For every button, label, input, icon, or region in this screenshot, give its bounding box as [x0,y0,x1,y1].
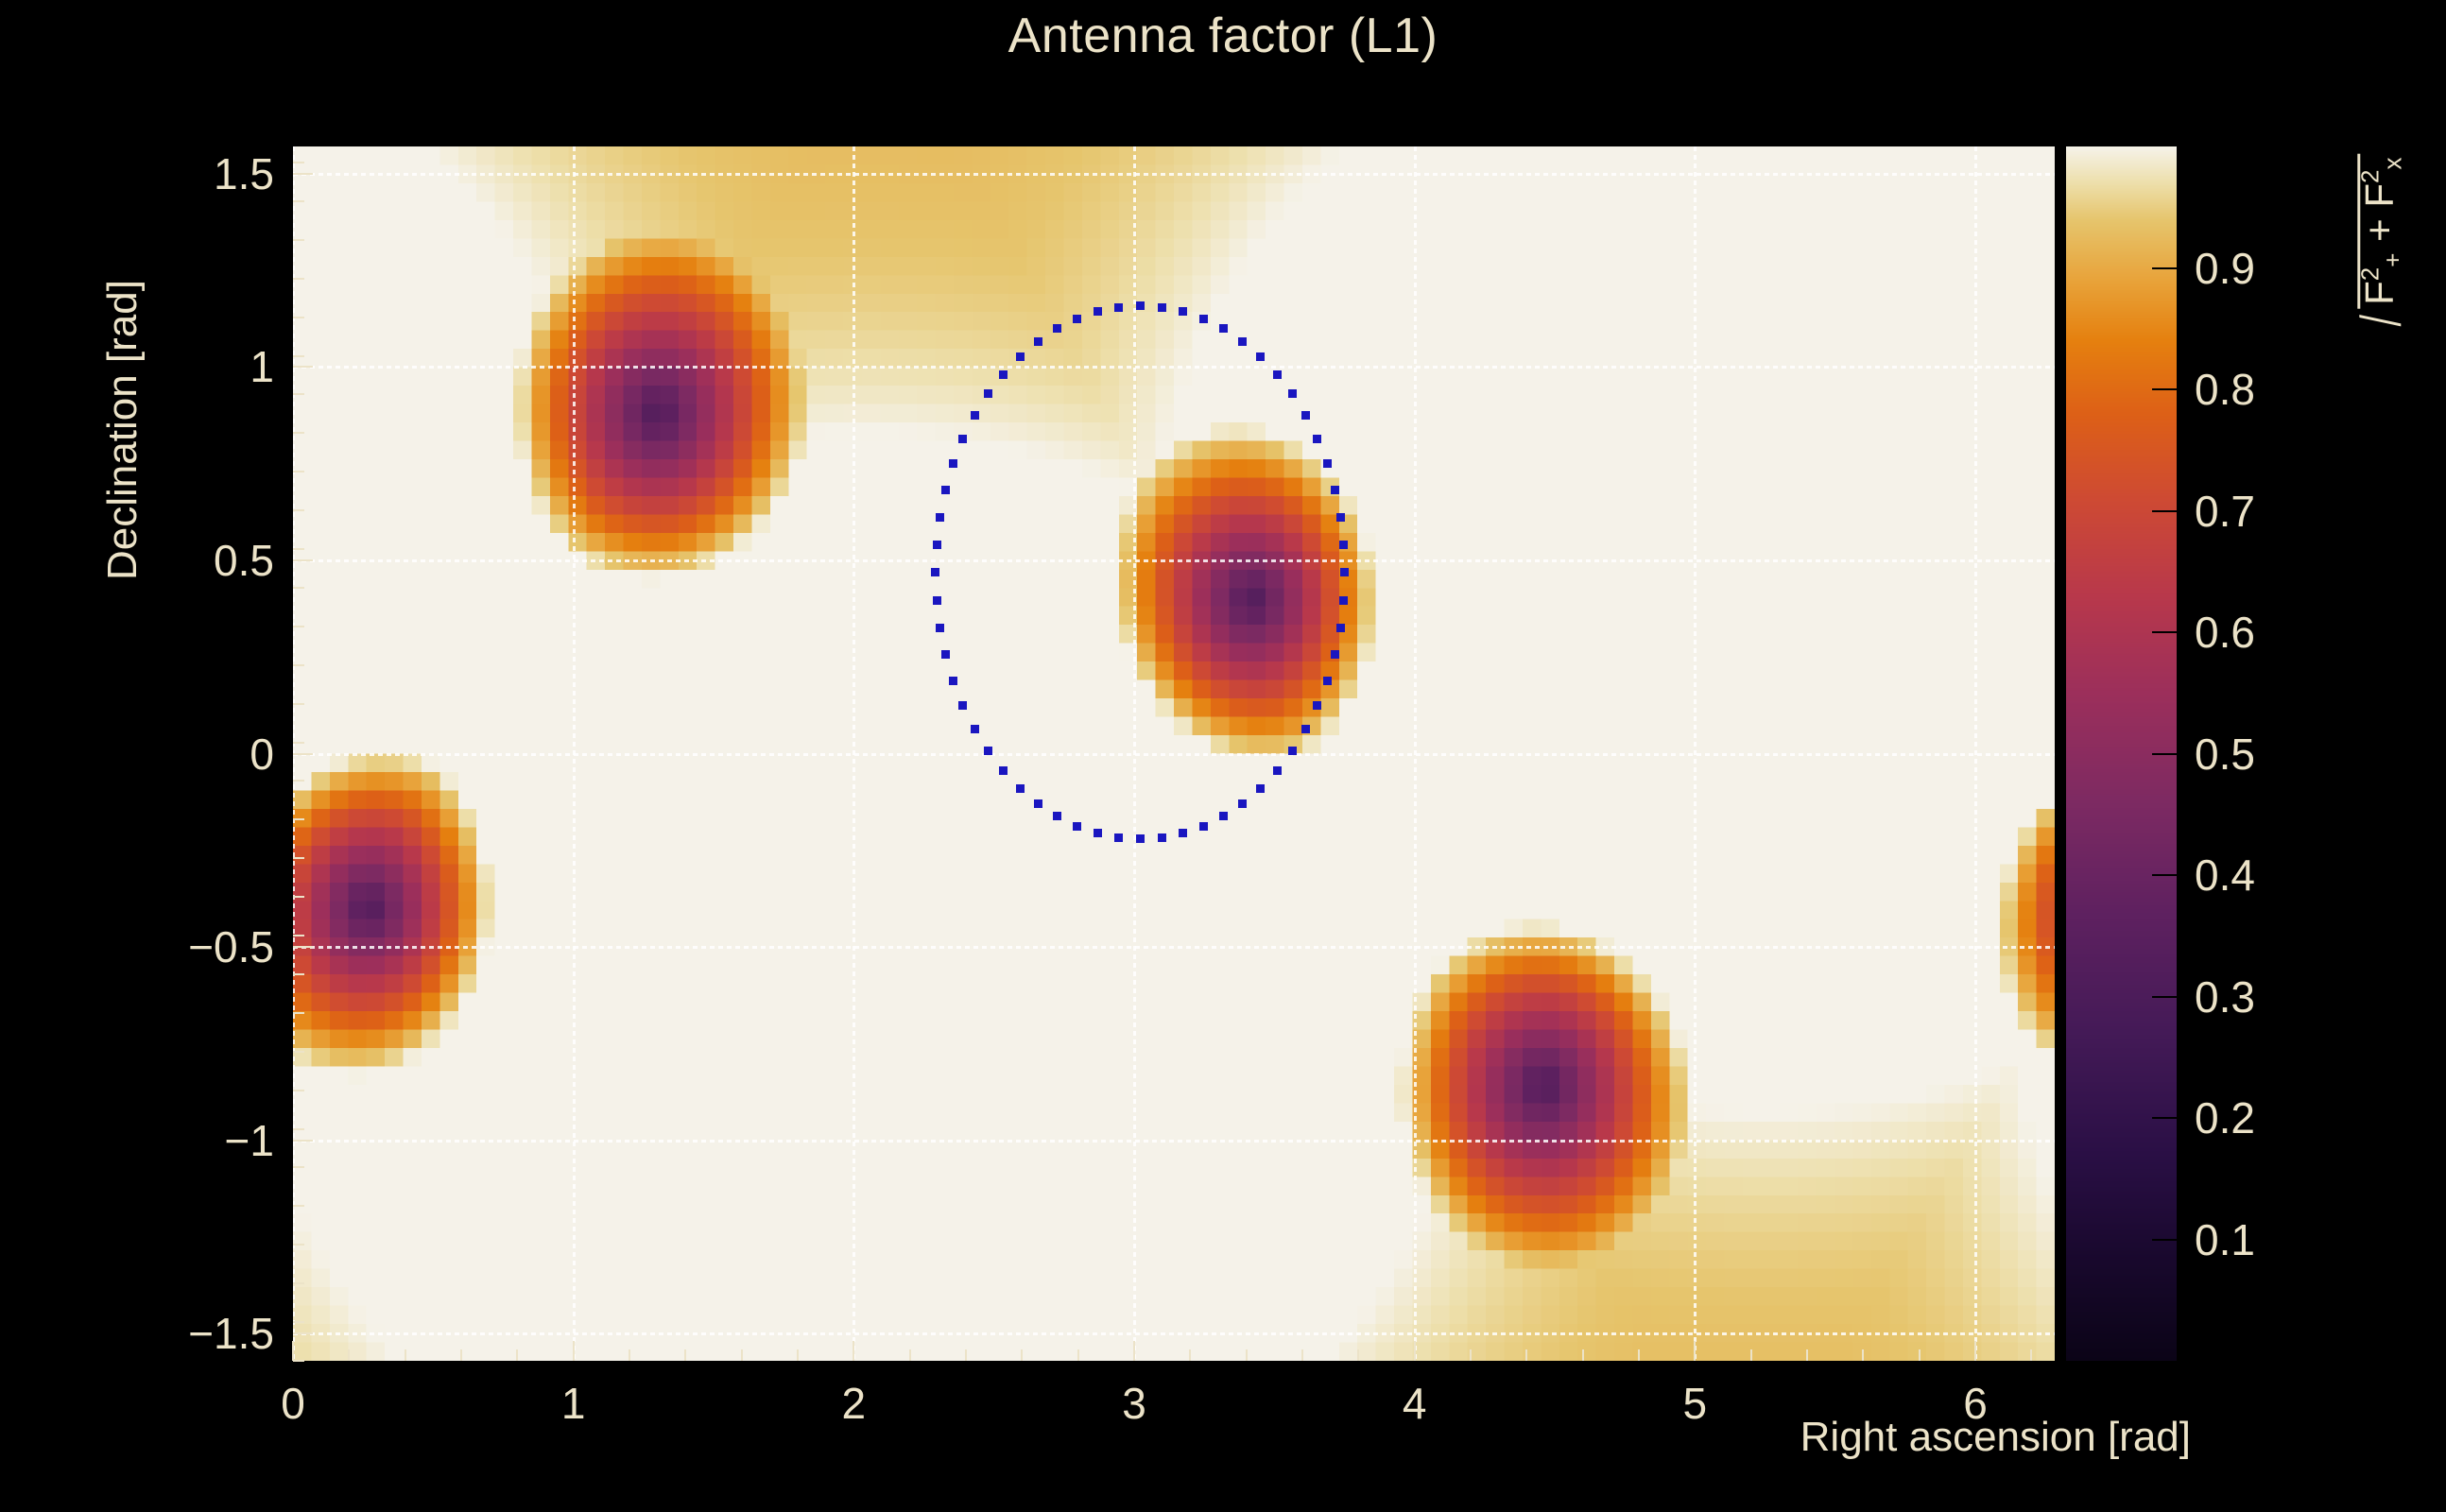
contour-marker [1238,799,1247,808]
contour-marker [931,568,939,576]
contour-marker [1136,834,1145,843]
x-tick-label: 3 [1068,1378,1200,1429]
y-tick-minor [293,1051,304,1053]
x-tick-minor [1357,1349,1359,1361]
y-tick-minor [293,1012,304,1014]
x-tick-minor [460,1349,462,1361]
contour-marker [984,747,992,755]
y-tick-minor [293,857,304,859]
contour-marker [949,677,957,685]
x-tick-minor [1525,1349,1527,1361]
x-tick-major [1133,1341,1135,1361]
y-tick-label: 0 [104,729,274,780]
x-tick-major [292,1341,294,1361]
y-tick-minor [293,1244,304,1246]
sky-localization-contour [293,146,2055,1361]
y-tick-minor [293,1166,304,1168]
contour-marker [1323,459,1332,468]
contour-marker [1199,822,1208,831]
x-tick-minor [1470,1349,1472,1361]
x-tick-major [573,1341,575,1361]
contour-marker [971,411,979,420]
x-tick-minor [1919,1349,1921,1361]
x-tick-major [1414,1341,1416,1361]
contour-marker [1034,337,1042,346]
y-tick-minor [293,162,304,163]
contour-marker [1199,315,1208,323]
y-tick-minor [293,780,304,782]
y-tick-minor [293,896,304,898]
contour-marker [1114,303,1123,312]
y-tick-minor [293,1090,304,1091]
y-tick-minor [293,1360,304,1362]
x-tick-minor [629,1349,630,1361]
contour-marker [1323,677,1332,685]
x-tick-minor [1301,1349,1303,1361]
y-tick-minor [293,548,304,550]
colorbar-tick-label: 0.3 [2195,971,2255,1022]
y-tick-minor [293,471,304,472]
contour-marker [971,725,979,733]
contour-marker [1053,812,1061,820]
contour-marker [984,389,992,398]
contour-marker [949,459,957,468]
x-tick-minor [797,1349,799,1361]
colorbar-tick-label: 0.6 [2195,607,2255,658]
colorbar-tick-label: 0.5 [2195,729,2255,780]
contour-marker [1136,301,1145,310]
contour-marker [1238,337,1247,346]
contour-marker [1340,568,1349,576]
contour-marker [1273,370,1282,379]
colorbar-tick [2152,631,2177,633]
contour-marker [1073,315,1081,323]
y-tick-minor [293,509,304,511]
contour-marker [1288,389,1297,398]
y-tick-minor [293,1205,304,1207]
x-tick-major [853,1341,854,1361]
contour-marker [1179,829,1187,837]
contour-marker [999,766,1008,775]
colorbar-tick-label: 0.4 [2195,850,2255,901]
x-tick-minor [741,1349,743,1361]
contour-marker [1094,829,1102,837]
x-tick-label: 0 [227,1378,359,1429]
y-tick-major [293,559,313,561]
y-tick-minor [293,278,304,280]
y-tick-minor [293,626,304,627]
x-tick-major [1974,1341,1976,1361]
contour-marker [1256,784,1265,793]
colorbar-tick [2152,1117,2177,1119]
colorbar-expression: F2+ + F2x [2356,158,2401,305]
contour-marker [1273,766,1282,775]
x-tick-minor [516,1349,518,1361]
contour-marker [1331,650,1339,659]
x-tick-minor [1750,1349,1752,1361]
y-tick-minor [293,200,304,202]
y-tick-major [293,1140,313,1142]
x-tick-minor [1582,1349,1584,1361]
x-axis-title: Right ascension [rad] [1800,1414,2191,1461]
plot-area [293,146,2055,1361]
contour-marker [1179,307,1187,316]
contour-marker [1053,324,1061,333]
y-tick-minor [293,355,304,357]
y-tick-minor [293,1128,304,1130]
contour-marker [941,650,950,659]
y-tick-minor [293,935,304,936]
y-tick-label: −1.5 [104,1308,274,1359]
colorbar-tick-label: 0.2 [2195,1092,2255,1143]
contour-marker [936,624,944,632]
contour-marker [958,435,967,443]
contour-marker [1158,303,1166,312]
contour-marker [1313,435,1321,443]
contour-marker [941,486,950,494]
colorbar-title: F2+ + F2x [2355,90,2407,392]
colorbar-tick [2152,510,2177,512]
contour-marker [958,701,967,710]
y-tick-minor [293,432,304,434]
y-tick-label: −1 [104,1115,274,1166]
y-tick-minor [293,818,304,820]
contour-marker [1339,541,1348,549]
colorbar-tick-label: 0.8 [2195,364,2255,415]
contour-marker [1094,307,1102,316]
y-tick-minor [293,1282,304,1284]
contour-marker [1016,784,1025,793]
x-tick-major [1694,1341,1696,1361]
contour-marker [936,513,944,522]
radical-icon: F2+ + F2x [2355,158,2407,324]
colorbar-tick [2152,388,2177,390]
x-tick-minor [965,1349,967,1361]
x-tick-minor [2030,1349,2032,1361]
y-tick-major [293,366,313,368]
x-tick-minor [684,1349,686,1361]
contour-marker [1034,799,1042,808]
x-tick-minor [1806,1349,1808,1361]
contour-marker [1336,624,1345,632]
x-tick-label: 5 [1628,1378,1761,1429]
contour-marker [1219,812,1228,820]
y-tick-minor [293,587,304,589]
contour-marker [1336,513,1345,522]
chart-title: Antenna factor (L1) [0,8,2446,64]
y-tick-label: 1.5 [104,148,274,199]
colorbar-title-wrap: F2+ + F2x [2242,109,2446,354]
contour-marker [1288,747,1297,755]
contour-marker [1114,833,1123,842]
y-tick-minor [293,703,304,705]
contour-marker [1339,596,1348,605]
y-tick-minor [293,1321,304,1323]
x-tick-label: 4 [1349,1378,1481,1429]
x-tick-minor [1077,1349,1079,1361]
y-axis-title: Declination [rad] [99,241,146,619]
x-tick-label: 1 [508,1378,640,1429]
contour-marker [1016,352,1025,361]
colorbar-tick [2152,267,2177,269]
x-tick-minor [1638,1349,1640,1361]
contour-marker [933,541,941,549]
contour-marker [1073,822,1081,831]
chart-root: Antenna factor (L1) 0123456−1.5−1−0.500.… [0,0,2446,1512]
y-tick-minor [293,317,304,318]
y-tick-major [293,946,313,948]
y-tick-minor [293,973,304,975]
x-tick-minor [1189,1349,1191,1361]
colorbar-tick-label: 0.1 [2195,1214,2255,1265]
contour-marker [1301,411,1310,420]
y-tick-minor [293,393,304,395]
contour-marker [1158,833,1166,842]
colorbar-tick [2152,1239,2177,1241]
x-tick-minor [1862,1349,1864,1361]
colorbar-tick [2152,753,2177,755]
contour-marker [1256,352,1265,361]
y-tick-minor [293,742,304,744]
y-tick-major [293,173,313,175]
contour-marker [933,596,941,605]
contour-marker [1301,725,1310,733]
x-tick-minor [1246,1349,1248,1361]
contour-marker [1313,701,1321,710]
y-tick-minor [293,664,304,666]
y-tick-minor [293,239,304,241]
colorbar-tick [2152,874,2177,876]
contour-marker [1219,324,1228,333]
x-tick-minor [909,1349,911,1361]
x-tick-minor [1021,1349,1023,1361]
colorbar-tick-label: 0.7 [2195,486,2255,537]
colorbar-tick [2152,996,2177,998]
contour-marker [999,370,1008,379]
y-tick-major [293,1332,313,1334]
contour-marker [1331,486,1339,494]
y-tick-major [293,753,313,755]
x-tick-minor [348,1349,350,1361]
x-tick-minor [405,1349,406,1361]
x-tick-label: 2 [787,1378,920,1429]
y-tick-label: −0.5 [104,921,274,972]
